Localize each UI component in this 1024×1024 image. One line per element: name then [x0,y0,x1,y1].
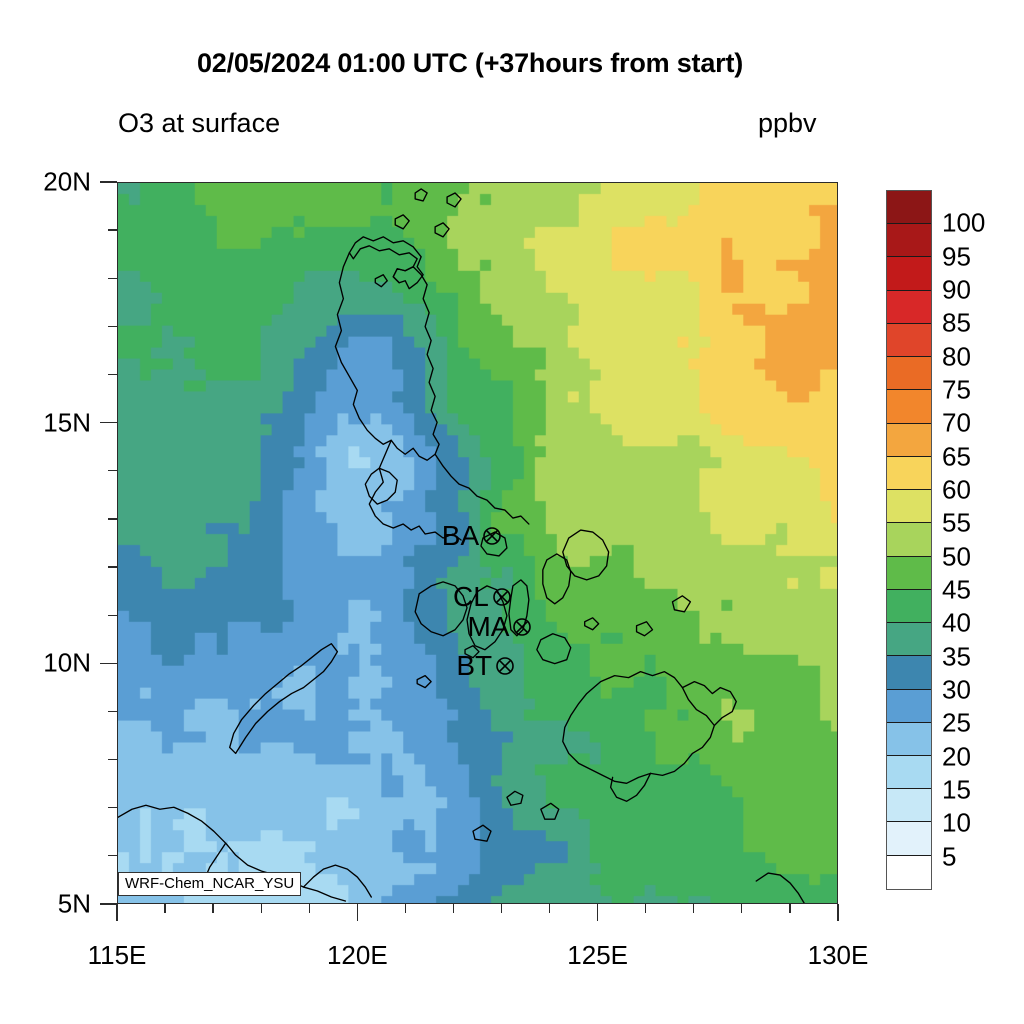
colorbar-segment [887,457,931,490]
colorbar-tick-label: 25 [942,708,971,739]
colorbar-tick-label: 100 [942,208,985,239]
model-watermark: WRF-Chem_NCAR_YSU [118,872,301,896]
colorbar-tick-label: 45 [942,575,971,606]
colorbar-segment [887,756,931,789]
colorbar-segment [887,357,931,390]
colorbar-tick-label: 70 [942,408,971,439]
x-axis-label: 115E [88,940,147,971]
y-axis-label: 15N [0,407,91,438]
page-title: 02/05/2024 01:00 UTC (+37hours from star… [0,48,940,79]
units-label: ppbv [758,108,817,139]
colorbar-tick-label: 20 [942,741,971,772]
variable-label: O3 at surface [118,108,280,139]
colorbar-segment [887,424,931,457]
colorbar-tick-label: 55 [942,508,971,539]
x-axis-minor-tick [453,904,454,913]
station-label-ma: MA [467,611,509,643]
station-marker-cl-icon [491,586,513,608]
colorbar-segment [887,557,931,590]
colorbar-segment [887,291,931,324]
x-axis-minor-tick [164,904,165,913]
y-axis-label: 5N [0,889,91,920]
colorbar-segment [887,590,931,623]
x-axis-minor-tick [212,904,213,913]
colorbar-segment [887,257,931,290]
y-axis-label: 10N [0,648,91,679]
station-marker-ma-icon [511,616,533,638]
station-label-ba: BA [442,520,479,552]
y-axis-major-tick [100,422,117,424]
colorbar-tick-label: 10 [942,808,971,839]
colorbar-tick-label: 75 [942,375,971,406]
station-marker-bt-icon [494,655,516,677]
colorbar-segment [887,789,931,822]
colorbar-segment [887,324,931,357]
colorbar-segment [887,191,931,224]
x-axis-major-tick [597,904,599,921]
x-axis-minor-tick [405,904,406,913]
colorbar-segment [887,224,931,257]
x-axis-label: 130E [808,940,869,971]
colorbar-tick-label: 30 [942,675,971,706]
y-axis-minor-tick [108,711,117,712]
colorbar-segment [887,656,931,689]
x-axis-major-tick [837,904,839,921]
colorbar-tick-label: 85 [942,308,971,339]
y-axis-minor-tick [108,615,117,616]
colorbar-segment [887,490,931,523]
y-axis-minor-tick [108,518,117,519]
y-axis-minor-tick [108,470,117,471]
y-axis-minor-tick [108,374,117,375]
x-axis-label: 120E [327,940,388,971]
colorbar-tick-label: 60 [942,475,971,506]
colorbar-segment [887,390,931,423]
x-axis-label: 125E [567,940,628,971]
y-axis-minor-tick [108,566,117,567]
y-axis-minor-tick [108,326,117,327]
colorbar-segment [887,856,931,889]
y-axis-minor-tick [108,855,117,856]
y-axis-label: 20N [0,167,91,198]
colorbar-segment [887,623,931,656]
colorbar-tick-label: 90 [942,275,971,306]
colorbar-segment [887,690,931,723]
x-axis-minor-tick [741,904,742,913]
y-axis-minor-tick [108,807,117,808]
map-plot-area: BACLMABT [117,182,838,904]
x-axis-minor-tick [693,904,694,913]
colorbar-tick-label: 80 [942,341,971,372]
y-axis-major-tick [100,663,117,665]
colorbar-tick-label: 50 [942,541,971,572]
y-axis-major-tick [100,903,117,905]
colorbar-tick-label: 40 [942,608,971,639]
x-axis-minor-tick [501,904,502,913]
y-axis-minor-tick [108,759,117,760]
colorbar-segment [887,822,931,855]
colorbar-tick-label: 15 [942,775,971,806]
colorbar-tick-label: 95 [942,241,971,272]
x-axis-minor-tick [549,904,550,913]
x-axis-minor-tick [309,904,310,913]
colorbar[interactable] [886,190,932,890]
colorbar-tick-label: 5 [942,841,956,872]
colorbar-segment [887,523,931,556]
y-axis-major-tick [100,181,117,183]
colorbar-segment [887,723,931,756]
x-axis-major-tick [116,904,118,921]
y-axis-minor-tick [108,229,117,230]
colorbar-tick-label: 35 [942,641,971,672]
x-axis-minor-tick [645,904,646,913]
colorbar-tick-label: 65 [942,441,971,472]
x-axis-major-tick [357,904,359,921]
station-label-cl: CL [453,581,489,613]
x-axis-minor-tick [789,904,790,913]
station-label-bt: BT [456,650,492,682]
y-axis-minor-tick [108,278,117,279]
station-marker-ba-icon [481,525,503,547]
x-axis-minor-tick [261,904,262,913]
